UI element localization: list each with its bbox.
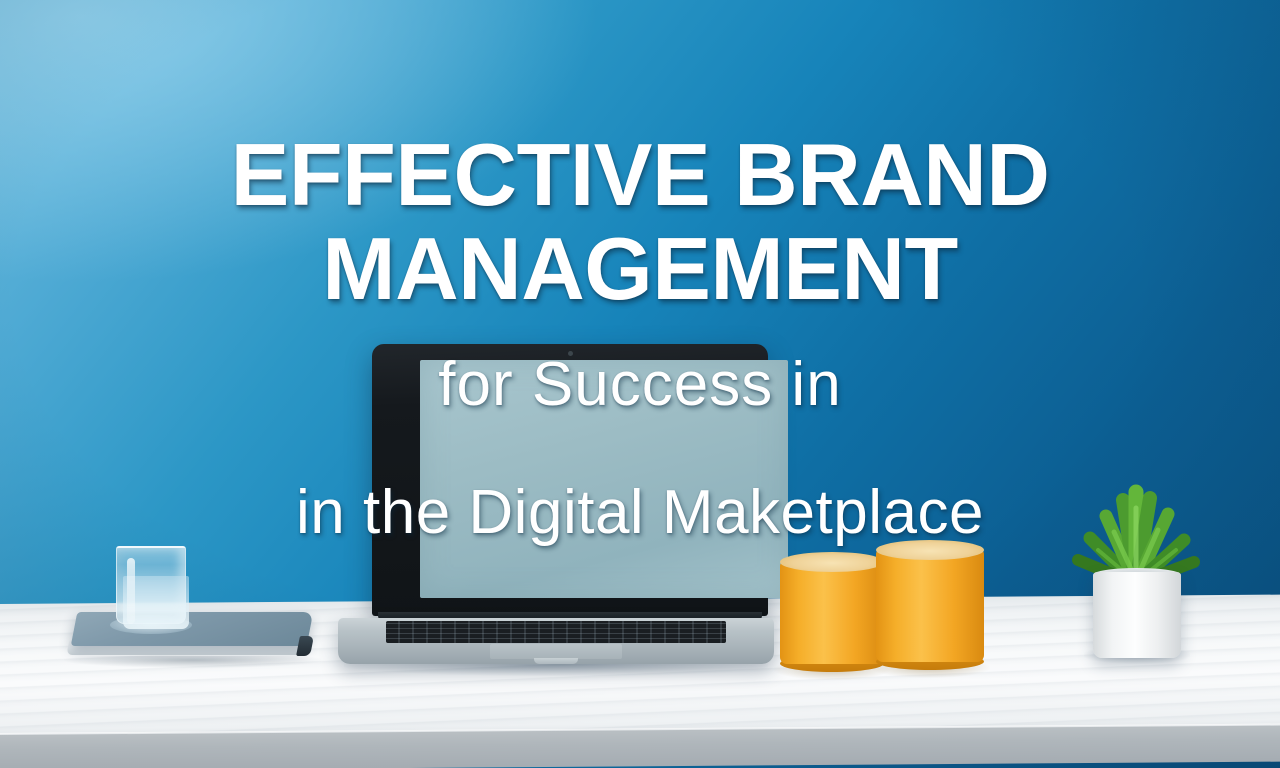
glass-of-water (112, 542, 190, 634)
laptop-front-notch (534, 658, 578, 664)
cylinder-left (780, 552, 884, 672)
laptop-keyboard-rows (386, 621, 726, 643)
notebook-shadow (64, 656, 322, 668)
laptop-trackpad (490, 644, 622, 659)
subheadline-line-1: for Success in (0, 350, 1280, 420)
glass-body (116, 546, 186, 624)
cylinder-left-body (780, 562, 884, 664)
cylinder-left-top (780, 552, 884, 572)
glass-highlight (127, 558, 135, 624)
headline-line-2: MANAGEMENT (0, 222, 1280, 316)
cylinder-right (876, 540, 984, 670)
subheadline-line-2: in the Digital Maketplace (0, 478, 1280, 548)
notebook-spine (296, 636, 314, 656)
headline-line-1: EFFECTIVE BRAND (0, 128, 1280, 222)
promo-banner: EFFECTIVE BRAND MANAGEMENT for Success i… (0, 0, 1280, 768)
cylinder-right-body (876, 550, 984, 662)
notebook-cover (71, 612, 314, 646)
plant-pot (1093, 572, 1181, 658)
